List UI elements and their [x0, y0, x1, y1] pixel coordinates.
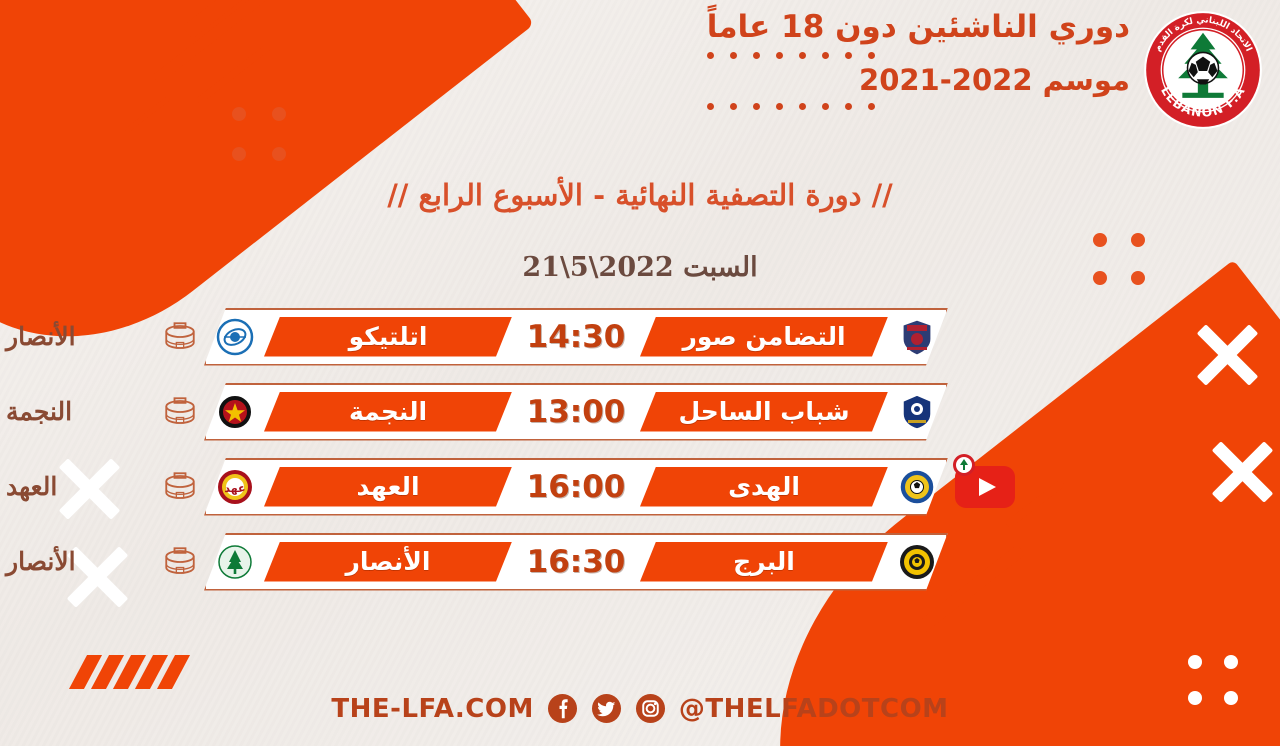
- brush-accent-4: [124, 96, 170, 134]
- away-team-band: التضامن صور: [640, 317, 888, 357]
- match-card[interactable]: اتلتيكو 14:30 التضامن صور: [204, 308, 948, 366]
- home-team-band: العهد: [264, 467, 512, 507]
- away-team-logo: [888, 388, 946, 436]
- instagram-icon[interactable]: [635, 693, 666, 724]
- away-team-band: البرج: [640, 542, 888, 582]
- away-team-logo: [888, 313, 946, 361]
- diagonal-stripes-decoration: [78, 655, 181, 689]
- burj-crest-icon: [897, 542, 937, 582]
- atletico-crest-icon: [215, 317, 255, 357]
- lebanon-fa-badge-icon: [952, 453, 976, 477]
- svg-text:عهد: عهد: [224, 482, 245, 495]
- facebook-icon[interactable]: [547, 693, 578, 724]
- header-dot-separator: [707, 103, 1124, 110]
- shabab-sahel-crest-icon: [897, 392, 937, 432]
- tadamon-sour-crest-icon: [897, 317, 937, 357]
- venue-label: الأنصار: [0, 547, 156, 576]
- twitter-icon[interactable]: [591, 693, 622, 724]
- brush-accent-1: [182, 0, 357, 39]
- ahed-crest-icon: عهد: [215, 467, 255, 507]
- away-team-band: شباب الساحل: [640, 392, 888, 432]
- kickoff-time: 16:30: [512, 544, 640, 580]
- match-row[interactable]: الأنصار الأنصار: [0, 530, 1280, 593]
- home-team-band: الأنصار: [264, 542, 512, 582]
- huda-crest-icon: [897, 467, 937, 507]
- match-date: السبت 2022\5\21: [0, 252, 1280, 283]
- venue-label: النجمة: [0, 397, 156, 426]
- brush-accent-3: [196, 42, 273, 104]
- venue-label: الأنصار: [0, 322, 156, 351]
- header-dot-separator: [707, 52, 1124, 59]
- youtube-stream-button[interactable]: [954, 465, 1016, 509]
- nejmeh-crest-icon: [215, 392, 255, 432]
- stadium-icon: [158, 465, 202, 509]
- kickoff-time: 14:30: [512, 319, 640, 355]
- kickoff-time: 16:00: [512, 469, 640, 505]
- lebanon-fa-crest-icon: الاتحاد اللبناني لكرة القدم LEBANON F.A: [1141, 8, 1265, 132]
- away-team-logo: [888, 538, 946, 586]
- ansar-crest-icon: [215, 542, 255, 582]
- match-row[interactable]: النجمة النجمة 13:00: [0, 380, 1280, 443]
- dot-grid-top-left: [232, 107, 286, 161]
- home-team-logo: [206, 388, 264, 436]
- home-team-name: النجمة: [349, 397, 427, 426]
- match-row[interactable]: الأنصار اتلتيكو: [0, 305, 1280, 368]
- home-team-name: الأنصار: [346, 547, 431, 576]
- home-team-band: اتلتيكو: [264, 317, 512, 357]
- stadium-icon: [158, 540, 202, 584]
- home-team-band: النجمة: [264, 392, 512, 432]
- kickoff-time: 13:00: [512, 394, 640, 430]
- home-team-name: اتلتيكو: [349, 322, 428, 351]
- away-team-name: شباب الساحل: [678, 397, 849, 426]
- match-row[interactable]: العهد عهد العهد: [0, 455, 1280, 518]
- footer-bar: THE-LFA.COM @THELFADOTCOM: [0, 693, 1280, 724]
- home-team-logo: [206, 538, 264, 586]
- away-team-band: الهدى: [640, 467, 888, 507]
- home-team-logo: [206, 313, 264, 361]
- match-list: الأنصار اتلتيكو: [0, 305, 1280, 605]
- away-team-name: البرج: [733, 547, 795, 576]
- season-label: موسم 2022-2021: [707, 63, 1130, 98]
- home-team-logo: عهد: [206, 463, 264, 511]
- venue-label: العهد: [0, 472, 156, 501]
- round-subtitle: // دورة التصفية النهائية - الأسبوع الراب…: [0, 178, 1280, 212]
- stadium-icon: [158, 390, 202, 434]
- poster-canvas: دوري الناشئين دون 18 عاماً موسم 2022-202…: [0, 0, 1280, 746]
- social-handle[interactable]: @THELFADOTCOM: [679, 694, 949, 724]
- away-team-name: التضامن صور: [682, 322, 845, 351]
- match-card[interactable]: النجمة 13:00 شباب الساحل: [204, 383, 948, 441]
- away-team-logo: [888, 463, 946, 511]
- match-card[interactable]: الأنصار 16:30 البرج: [204, 533, 948, 591]
- brush-accent-2: [153, 0, 278, 84]
- league-title: دوري الناشئين دون 18 عاماً: [707, 8, 1130, 47]
- home-team-name: العهد: [357, 472, 420, 501]
- match-card[interactable]: عهد العهد 16:00 الهدى: [204, 458, 948, 516]
- poster-header: دوري الناشئين دون 18 عاماً موسم 2022-202…: [707, 8, 1130, 114]
- stadium-icon: [158, 315, 202, 359]
- away-team-name: الهدى: [728, 472, 800, 501]
- website-label[interactable]: THE-LFA.COM: [331, 694, 533, 724]
